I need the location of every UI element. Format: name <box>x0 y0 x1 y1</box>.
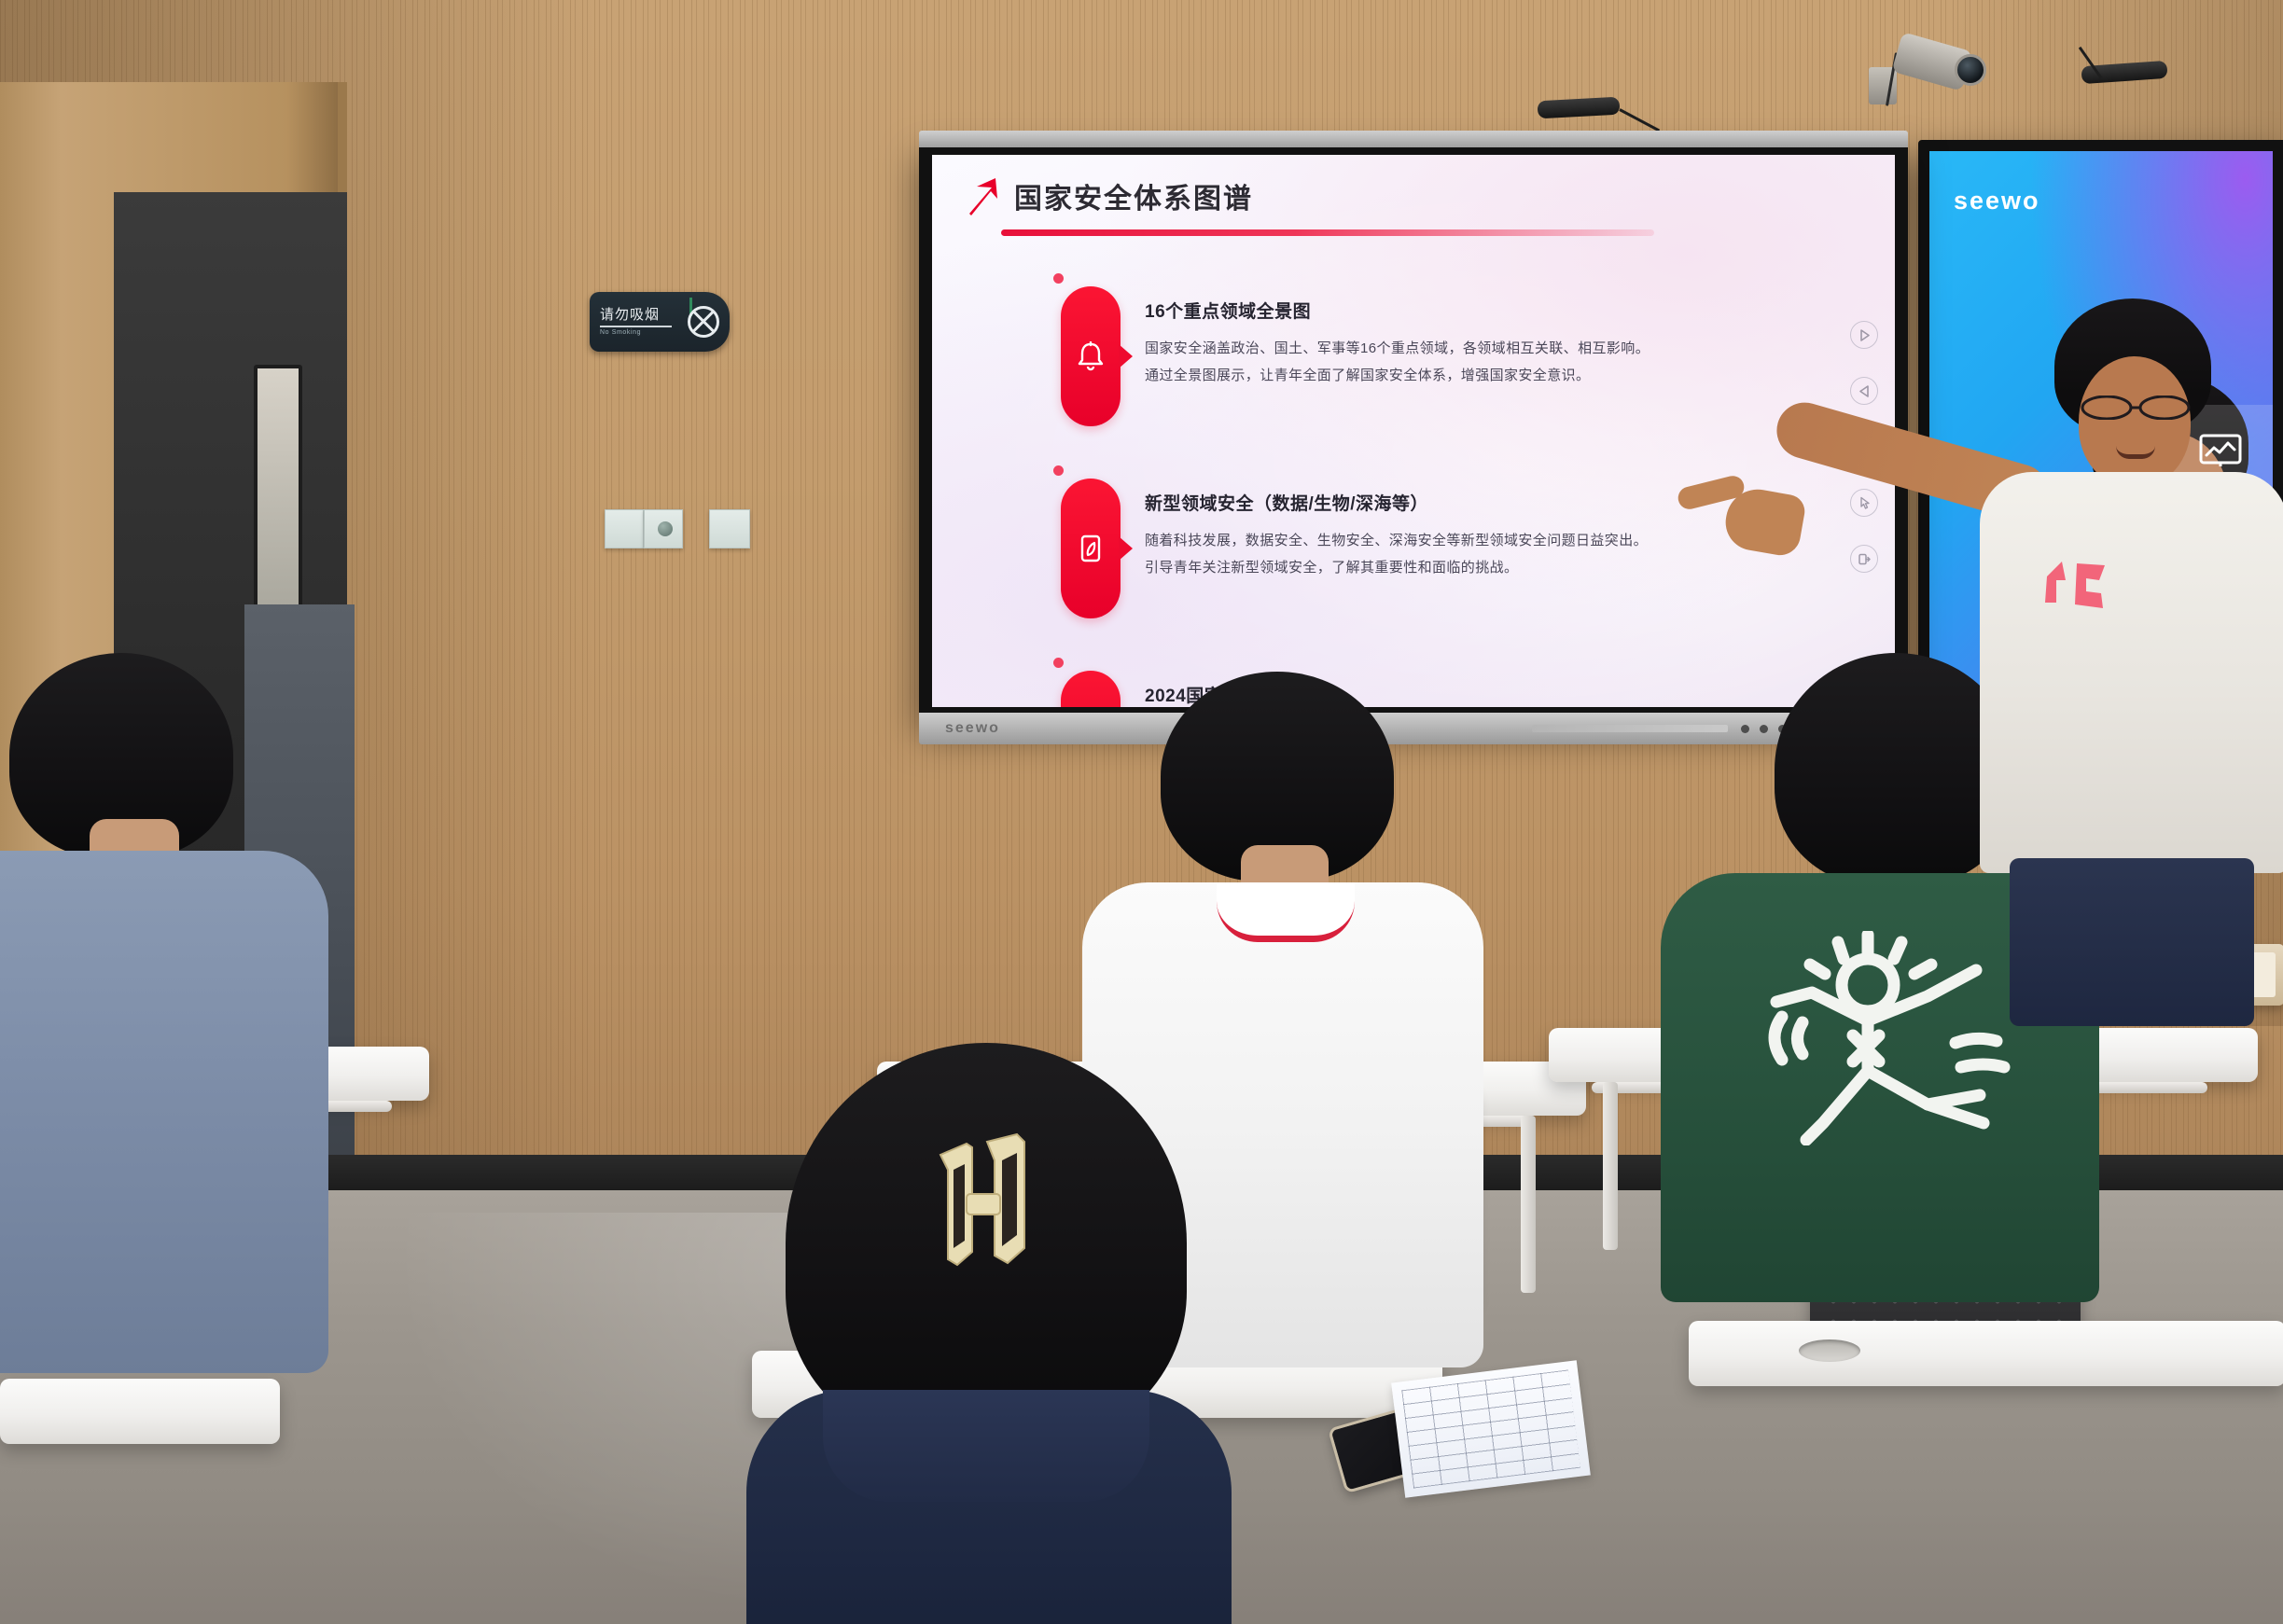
slide-title-underline <box>1001 229 1654 236</box>
play-icon[interactable] <box>1850 321 1878 349</box>
slide-bullet-3: 2024国家安全形势研判 分析2024年国家安全形势，指出当前面临的主要安全威胁… <box>1061 671 1871 707</box>
bullet-1-line-2: 通过全景图展示，让青年全面了解国家安全体系，增强国家安全意识。 <box>1145 362 1650 389</box>
slide-bullet-1: 16个重点领域全景图 国家安全涵盖政治、国土、军事等16个重点领域，各领域相互关… <box>1061 286 1871 426</box>
bezel-model-label <box>1532 725 1728 732</box>
no-smoking-sign: 请勿吸烟 No Smoking <box>590 292 730 352</box>
document-pen-icon <box>1077 534 1105 563</box>
red-arrow-icon <box>964 176 1001 215</box>
classroom-scene: 请勿吸烟 No Smoking seewo <box>0 0 2283 1624</box>
desk-leg-3 <box>1603 1082 1618 1250</box>
main-display-bottom-bezel: seewo <box>919 713 1908 744</box>
light-switch-2[interactable] <box>644 509 683 548</box>
bullet-3-badge <box>1061 671 1121 707</box>
side-display-top-bezel <box>1918 140 2283 144</box>
desk-front-right <box>1689 1321 2283 1386</box>
hw-button-2[interactable] <box>1760 725 1768 733</box>
whiteboard-icon <box>2199 434 2242 467</box>
presenter-shirt <box>1980 472 2283 873</box>
bullet-2-line-2: 引导青年关注新型领域安全，了解其重要性和面临的挑战。 <box>1145 554 1648 581</box>
presenter-shirt-logo-icon <box>2038 554 2118 623</box>
slide-header: 国家安全体系图谱 <box>956 175 1871 216</box>
bullet-1-line-1: 国家安全涵盖政治、国土、军事等16个重点领域，各领域相互关联、相互影响。 <box>1145 335 1650 362</box>
presenter-trousers <box>2010 858 2254 1026</box>
bullet-2-title: 新型领域安全（数据/生物/深海等） <box>1145 490 1648 515</box>
pointer-icon[interactable] <box>1850 489 1878 517</box>
seewo-logo-side: seewo <box>1954 187 2040 215</box>
sign-divider <box>600 326 672 327</box>
bullet-3-dot <box>1053 658 1064 668</box>
main-display-top-bezel <box>919 131 1908 147</box>
desk-front-far-left <box>0 1379 280 1444</box>
worksheet-table-grid <box>1401 1369 1580 1488</box>
sign-label-cn: 请勿吸烟 <box>600 308 684 324</box>
hw-button-1[interactable] <box>1741 725 1749 733</box>
desk-grommet-front-right <box>1799 1339 1860 1362</box>
bullet-1-dot <box>1053 273 1064 284</box>
main-display[interactable]: 国家安全体系图谱 <box>919 142 1908 720</box>
bullet-1-badge <box>1061 286 1121 426</box>
camera-lens-icon <box>1955 54 1986 86</box>
jacket-figure-graphic-icon <box>1754 931 2034 1145</box>
light-switch-1[interactable] <box>605 509 644 548</box>
light-switch-3[interactable] <box>709 509 750 548</box>
bullet-1-title: 16个重点领域全景图 <box>1145 298 1650 323</box>
bullet-2-badge <box>1061 479 1121 618</box>
door-window <box>254 365 302 617</box>
presentation-slide[interactable]: 国家安全体系图谱 <box>932 155 1895 707</box>
desk-leg-2 <box>1521 1116 1536 1293</box>
presenter-glasses-icon-real <box>2079 396 2191 420</box>
back-icon[interactable] <box>1850 377 1878 405</box>
presenter-face-real <box>2079 356 2191 487</box>
student-middle-collar <box>1217 882 1355 942</box>
seewo-logo-main: seewo <box>945 720 1000 737</box>
bullet-2-dot <box>1053 465 1064 476</box>
no-smoking-icon <box>688 306 719 338</box>
student-left-torso <box>0 851 328 1373</box>
sign-label-en: No Smoking <box>600 329 684 336</box>
hair-clip-icon <box>935 1129 1045 1269</box>
student-front-hood <box>823 1390 1149 1502</box>
exit-icon[interactable] <box>1850 545 1878 573</box>
presenter-smile-real <box>2116 446 2155 459</box>
bullet-2-line-1: 随着科技发展，数据安全、生物安全、深海安全等新型领域安全问题日益突出。 <box>1145 527 1648 554</box>
switch-knob-icon <box>658 521 673 536</box>
printed-worksheet <box>1391 1360 1591 1497</box>
bell-icon <box>1077 341 1105 371</box>
slide-title: 国家安全体系图谱 <box>1014 175 1253 216</box>
